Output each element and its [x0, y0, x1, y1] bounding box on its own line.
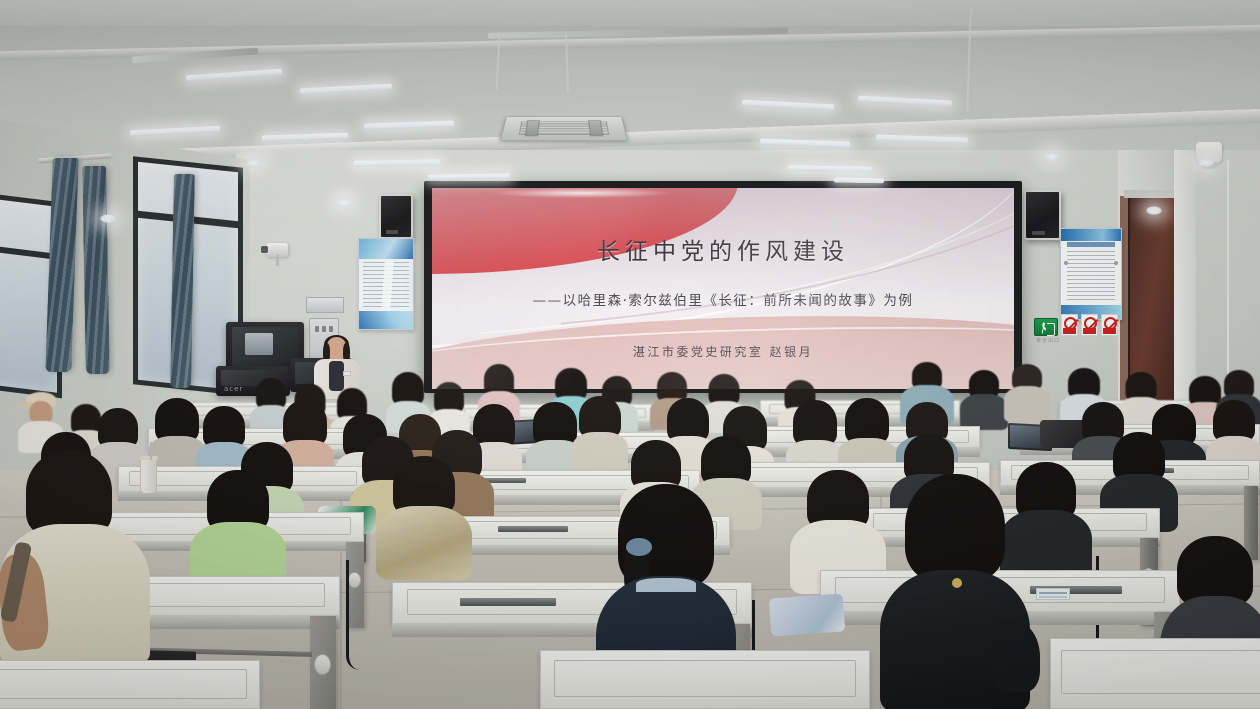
desk-row6-center	[540, 650, 870, 709]
safety-sign-row	[1034, 314, 1118, 336]
attendee-arm	[992, 622, 1040, 692]
attendee	[190, 470, 286, 590]
desk-row6-left	[0, 660, 260, 709]
desk-monitor-well	[554, 660, 856, 696]
slide-subtitle: ——以哈里森·索尔兹伯里《长征：前所未闻的故事》为例	[432, 289, 1014, 309]
poster-footer-band	[359, 311, 413, 329]
ceiling-air-conditioner-unit	[500, 116, 629, 141]
desk-surface	[1050, 638, 1260, 709]
notice-text-lines	[1067, 251, 1115, 303]
ceiling-downlight	[246, 158, 262, 167]
safety-sign-caption: 安全出口	[1036, 337, 1060, 344]
no-fire-icon	[1061, 314, 1078, 336]
no-food-drink-icon	[1101, 314, 1118, 336]
attendee	[838, 398, 896, 472]
slide-text-block: 长征中党的作风建设 ——以哈里森·索尔兹伯里《长征：前所未闻的故事》为例 湛江市…	[432, 188, 1014, 389]
knob-icon	[315, 326, 319, 332]
folded-clothing[interactable]	[769, 593, 845, 636]
attendee-torso	[960, 394, 1008, 430]
cable-grommet	[314, 654, 331, 675]
ceiling-edge-band	[0, 0, 1260, 26]
knob-icon	[322, 326, 326, 332]
wall-display-plate	[306, 297, 344, 313]
desk-cable-slot	[460, 598, 556, 606]
screen-top-highlight	[492, 188, 672, 198]
wall-speaker-left	[379, 194, 413, 239]
camera-mount-arm	[276, 255, 279, 266]
cup-straw	[150, 442, 152, 460]
power-cable	[346, 560, 374, 670]
ceiling-downlight	[100, 214, 116, 223]
poster-header-band	[359, 239, 413, 259]
knob-icon	[329, 326, 333, 332]
wall-notice-board	[1060, 228, 1122, 320]
ceiling-downlight	[1044, 152, 1060, 161]
desk-monitor-well	[1061, 650, 1260, 694]
curtain-middle[interactable]	[82, 166, 110, 374]
necklace-pendant-icon	[952, 578, 962, 588]
slide-title: 长征中党的作风建设	[432, 232, 1014, 266]
projection-screen: 长征中党的作风建设 ——以哈里森·索尔兹伯里《长征：前所未闻的故事》为例 湛江市…	[432, 188, 1014, 389]
prohibition-label	[1063, 328, 1076, 334]
notice-title-line	[1067, 242, 1115, 247]
desk-asset-label	[1036, 588, 1070, 600]
attendee-front-right	[880, 474, 1030, 709]
ceiling-downlight	[1146, 206, 1162, 215]
monitor-screen-glow	[245, 333, 273, 355]
ceiling-tube-light	[834, 178, 884, 184]
attendee	[376, 456, 472, 578]
attendee-torso	[376, 506, 472, 580]
door-header-trim	[1124, 190, 1178, 198]
notice-pin-icon	[1064, 261, 1068, 265]
desk-cable-slot	[498, 526, 568, 532]
ac-vane	[525, 120, 540, 136]
slide-presenter: 湛江市委党史研究室 赵银月	[432, 343, 1014, 360]
curtain-right[interactable]	[170, 174, 195, 388]
monitor-brand-mark: acer	[224, 385, 243, 393]
presenter-name-badge	[343, 371, 351, 376]
attendee-torso	[1004, 386, 1050, 422]
classroom-photo-scene: 安全出口 长征中党的作风建设 ——以哈里森·索尔兹伯里《长征：前所未闻的故事》为…	[0, 0, 1260, 709]
prohibition-label	[1103, 328, 1116, 334]
emergency-exit-icon	[1034, 318, 1058, 336]
wall-poster-left	[358, 238, 414, 330]
desk-row6-right	[1050, 638, 1260, 709]
hair-scrunchie	[626, 538, 652, 556]
wall-speaker-right	[1024, 190, 1061, 240]
ac-vane	[588, 120, 603, 136]
presentation-slide: 长征中党的作风建设 ——以哈里森·索尔兹伯里《长征：前所未闻的故事》为例 湛江市…	[432, 188, 1014, 389]
desk-surface	[540, 650, 870, 709]
control-panel-knobs	[315, 326, 333, 332]
ceiling-downlight	[1198, 158, 1214, 167]
notice-pin-icon	[1114, 261, 1118, 265]
no-smoking-icon	[1081, 314, 1098, 336]
ceiling-downlight	[336, 198, 352, 207]
desk-surface	[0, 660, 260, 709]
desk-monitor-well	[0, 669, 247, 699]
prohibition-label	[1083, 328, 1096, 334]
attendee-collar	[636, 578, 696, 592]
attendee-hair	[905, 474, 1005, 582]
projection-screen-frame: 长征中党的作风建设 ——以哈里森·索尔兹伯里《长征：前所未闻的故事》为例 湛江市…	[424, 181, 1022, 393]
attendee-front-left	[0, 450, 150, 660]
notice-header-band	[1061, 229, 1121, 241]
monitor-screen	[232, 327, 298, 370]
